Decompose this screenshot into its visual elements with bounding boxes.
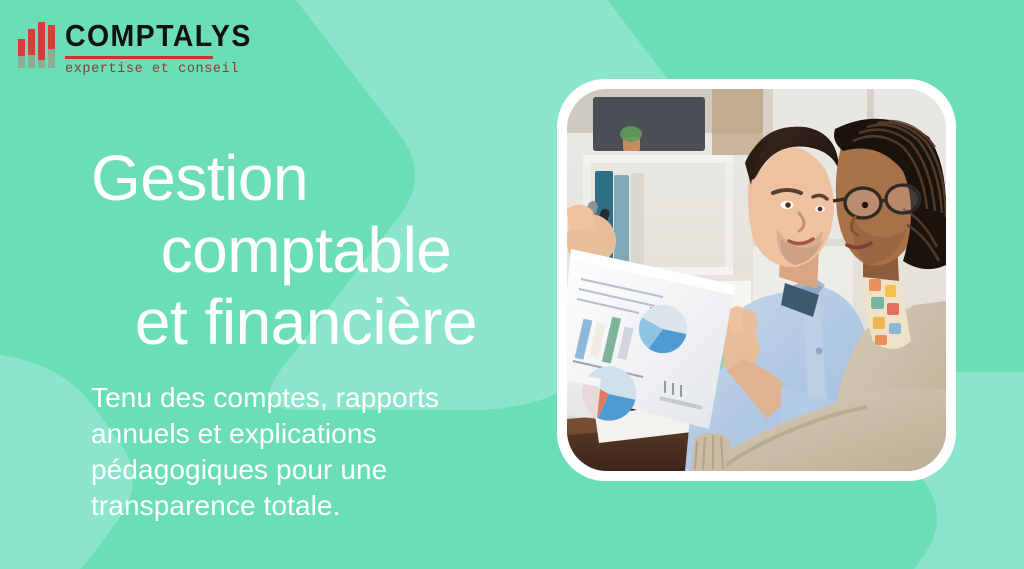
hero-subtitle: Tenu des comptes, rapports annuels et ex… (91, 380, 521, 524)
hero-image-frame (557, 79, 956, 481)
brand-logo-text: COMPTALYS expertise et conseil (65, 20, 268, 77)
brand-divider (65, 56, 213, 59)
headline-line-2: comptable (91, 214, 521, 286)
brand-logo[interactable]: COMPTALYS expertise et conseil (18, 20, 268, 77)
hero-image (567, 89, 946, 471)
page-title: Gestion comptable et financière (91, 142, 521, 358)
bar-chart-icon (18, 22, 55, 68)
headline-line-3: et financière (91, 286, 521, 358)
hero-copy: Gestion comptable et financière Tenu des… (91, 142, 521, 524)
brand-name: COMPTALYS (65, 20, 252, 51)
hero-banner: COMPTALYS expertise et conseil Gestion c… (0, 0, 1024, 569)
headline-line-1: Gestion (91, 142, 521, 214)
brand-tagline: expertise et conseil (65, 63, 268, 77)
